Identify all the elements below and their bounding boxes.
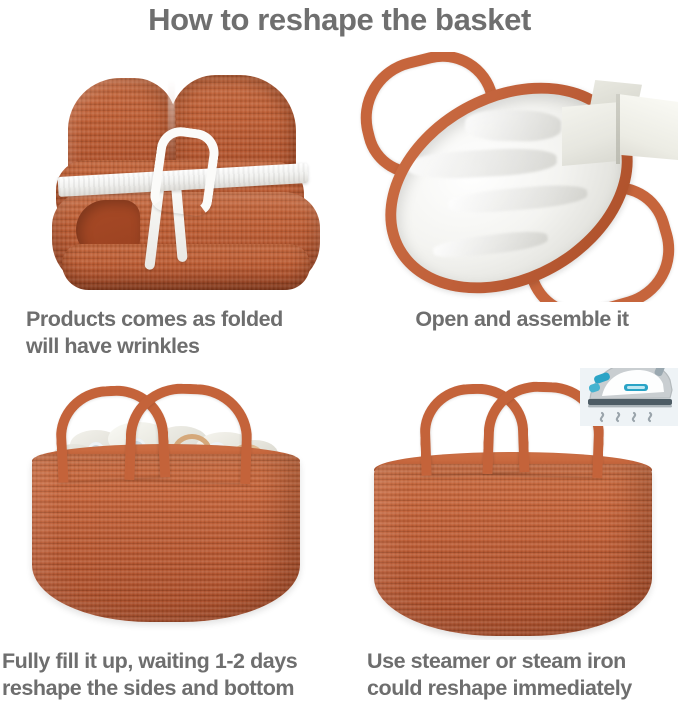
infographic-root: How to reshape the basket Products comes… [0,0,679,711]
open-basket-illustration [352,52,678,302]
lining-fold [465,109,562,141]
step-image-empty-basket [362,368,679,640]
step-image-folded-basket [50,72,330,297]
caption-step-steam: Use steamer or steam iron could reshape … [367,648,679,702]
rope-handle-right [124,382,253,484]
divider-panel-right [618,94,678,160]
step-image-filled-basket [22,382,340,640]
steam-iron-icon [580,368,678,426]
lining-fold [432,228,549,261]
folded-basket-illustration [50,72,330,297]
caption-step-fill: Fully fill it up, waiting 1-2 days resha… [2,648,360,702]
caption-step-folded: Products comes as folded will have wrink… [26,306,336,360]
step-image-open-basket [352,52,678,302]
lining-fold [448,182,589,216]
filled-basket-illustration [22,382,340,640]
page-title: How to reshape the basket [0,2,679,38]
divider-fold-edge [616,94,620,164]
divider-insert [560,80,678,178]
ribbon-bow-loop [148,124,221,218]
divider-panel-left [562,102,620,166]
basket-body [374,464,652,636]
lining-fold [407,147,557,182]
caption-step-open: Open and assemble it [372,306,672,333]
